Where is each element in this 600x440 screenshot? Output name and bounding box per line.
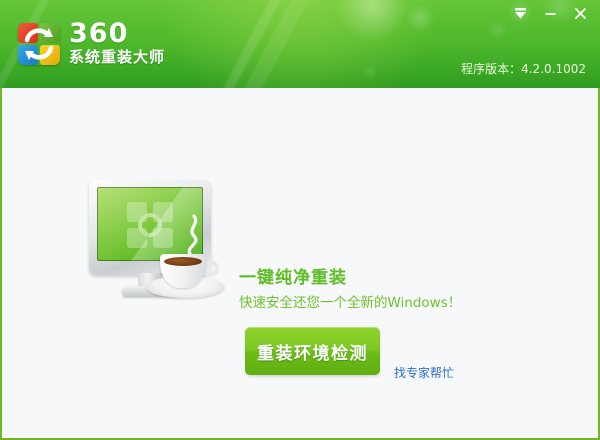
content-panel: 一键纯净重装 快速安全还您一个全新的Windows！ 重装环境检测 找专家帮忙 … [0,88,600,440]
window-controls [506,0,594,26]
steam-icon [172,214,212,258]
watermark-ring [138,213,162,237]
360-reinstall-logo-icon [18,23,60,65]
page-title: 一键纯净重装 [239,268,347,288]
refresh-arrows-icon [18,23,60,65]
logo-title: 360 [69,21,165,46]
minimize-button[interactable] [536,2,564,24]
find-expert-link[interactable]: 找专家帮忙 [394,366,454,381]
coffee-liquid [164,257,202,266]
logo-text: 360 系统重装大师 [69,21,165,66]
start-detection-button[interactable]: 重装环境检测 [245,327,380,375]
close-icon [574,7,587,20]
app-logo: 360 系统重装大师 [18,21,165,66]
monitor-with-coffee-cup-icon [84,180,224,300]
page-subtitle: 快速安全还您一个全新的Windows！ [239,295,461,312]
version-label: 程序版本：4.2.0.1002 [461,62,586,76]
menu-dropdown-icon [514,7,527,20]
menu-button[interactable] [506,2,534,24]
header-sheen [150,0,450,88]
minimize-icon [544,7,557,20]
logo-subtitle: 系统重装大师 [69,48,165,66]
close-button[interactable] [566,2,594,24]
360-watermark-icon [127,202,173,248]
app-window: 360 系统重装大师 程序版 [0,0,600,440]
title-bar: 360 系统重装大师 程序版 [0,0,600,88]
